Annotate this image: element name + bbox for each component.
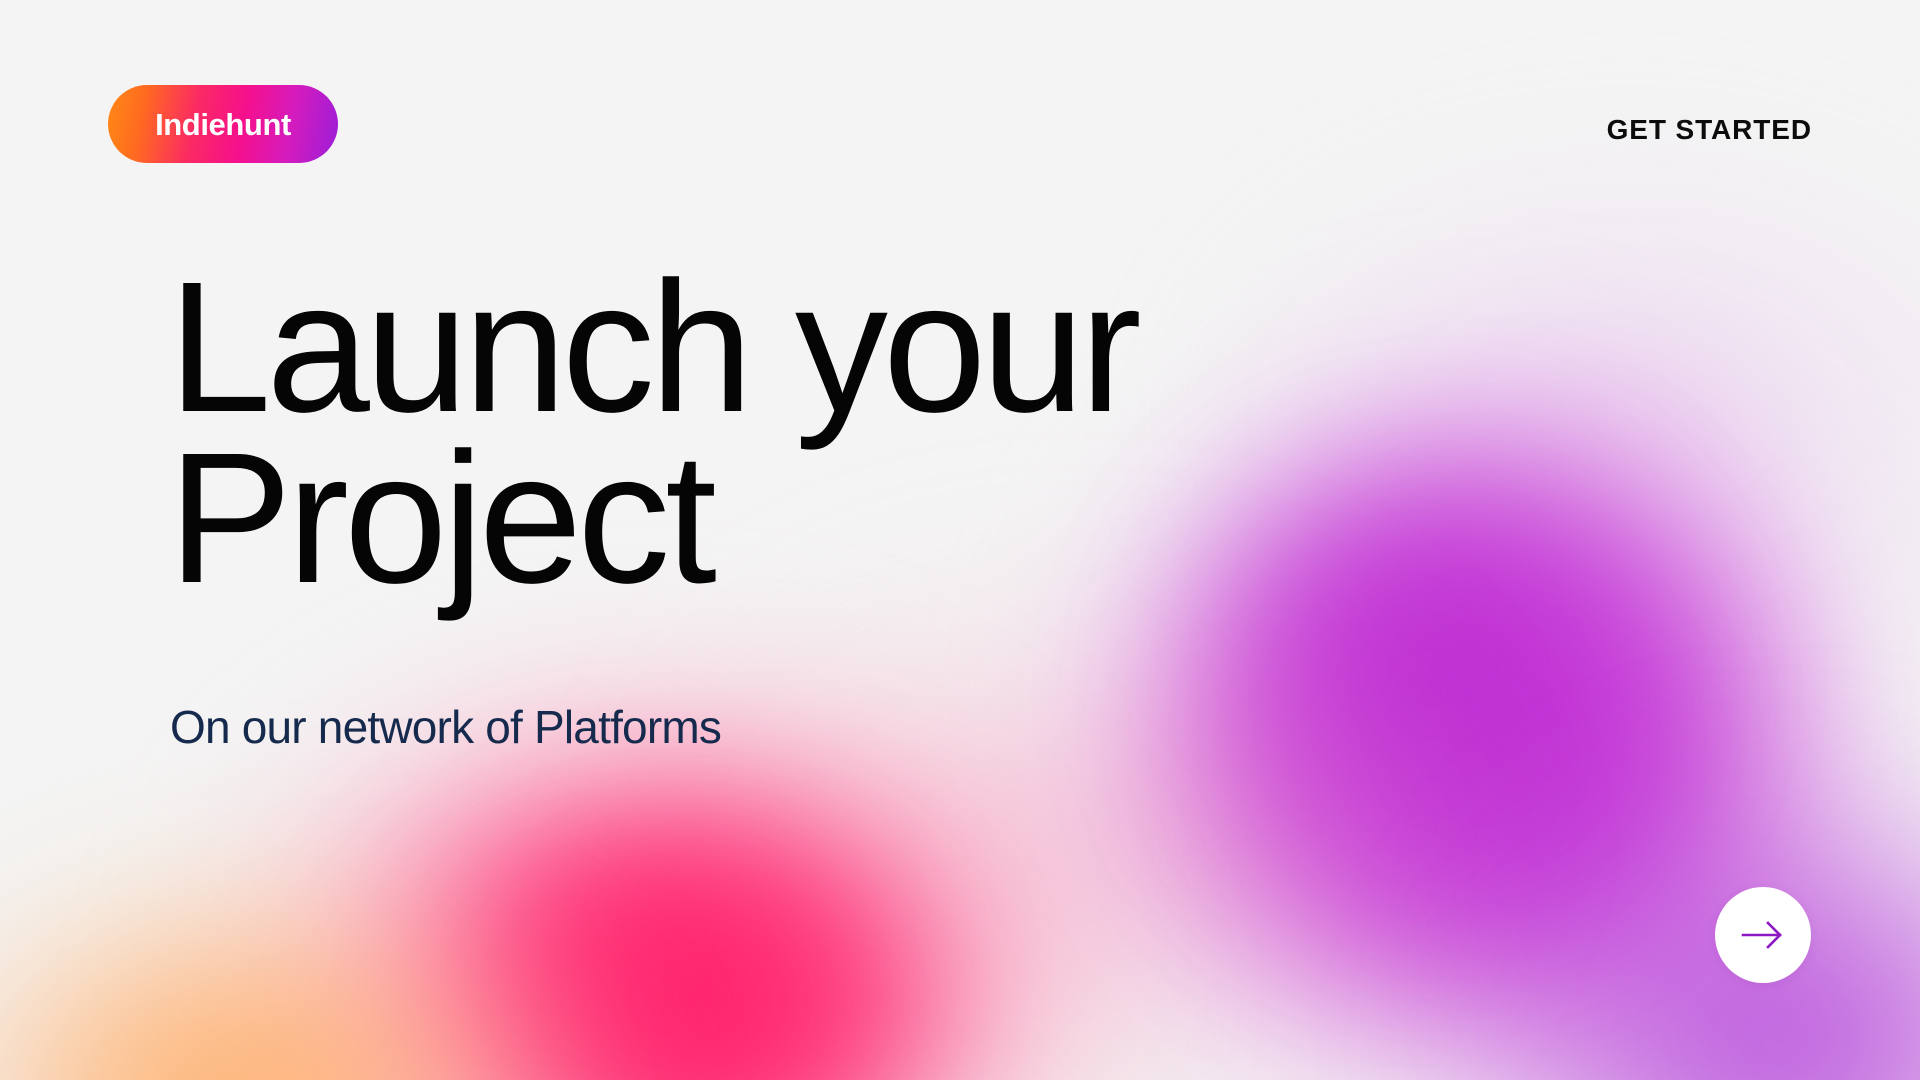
page-title: Launch your Project (168, 262, 1137, 604)
next-arrow-button[interactable] (1715, 887, 1811, 983)
arrow-right-icon (1739, 919, 1787, 951)
landing-page: Indiehunt GET STARTED Launch your Projec… (0, 0, 1920, 1080)
page-content: Indiehunt GET STARTED Launch your Projec… (0, 0, 1920, 1080)
page-subtitle: On our network of Platforms (170, 700, 721, 754)
logo-label: Indiehunt (155, 109, 291, 140)
logo-pill-button[interactable]: Indiehunt (108, 85, 338, 163)
get-started-link[interactable]: GET STARTED (1607, 114, 1812, 146)
